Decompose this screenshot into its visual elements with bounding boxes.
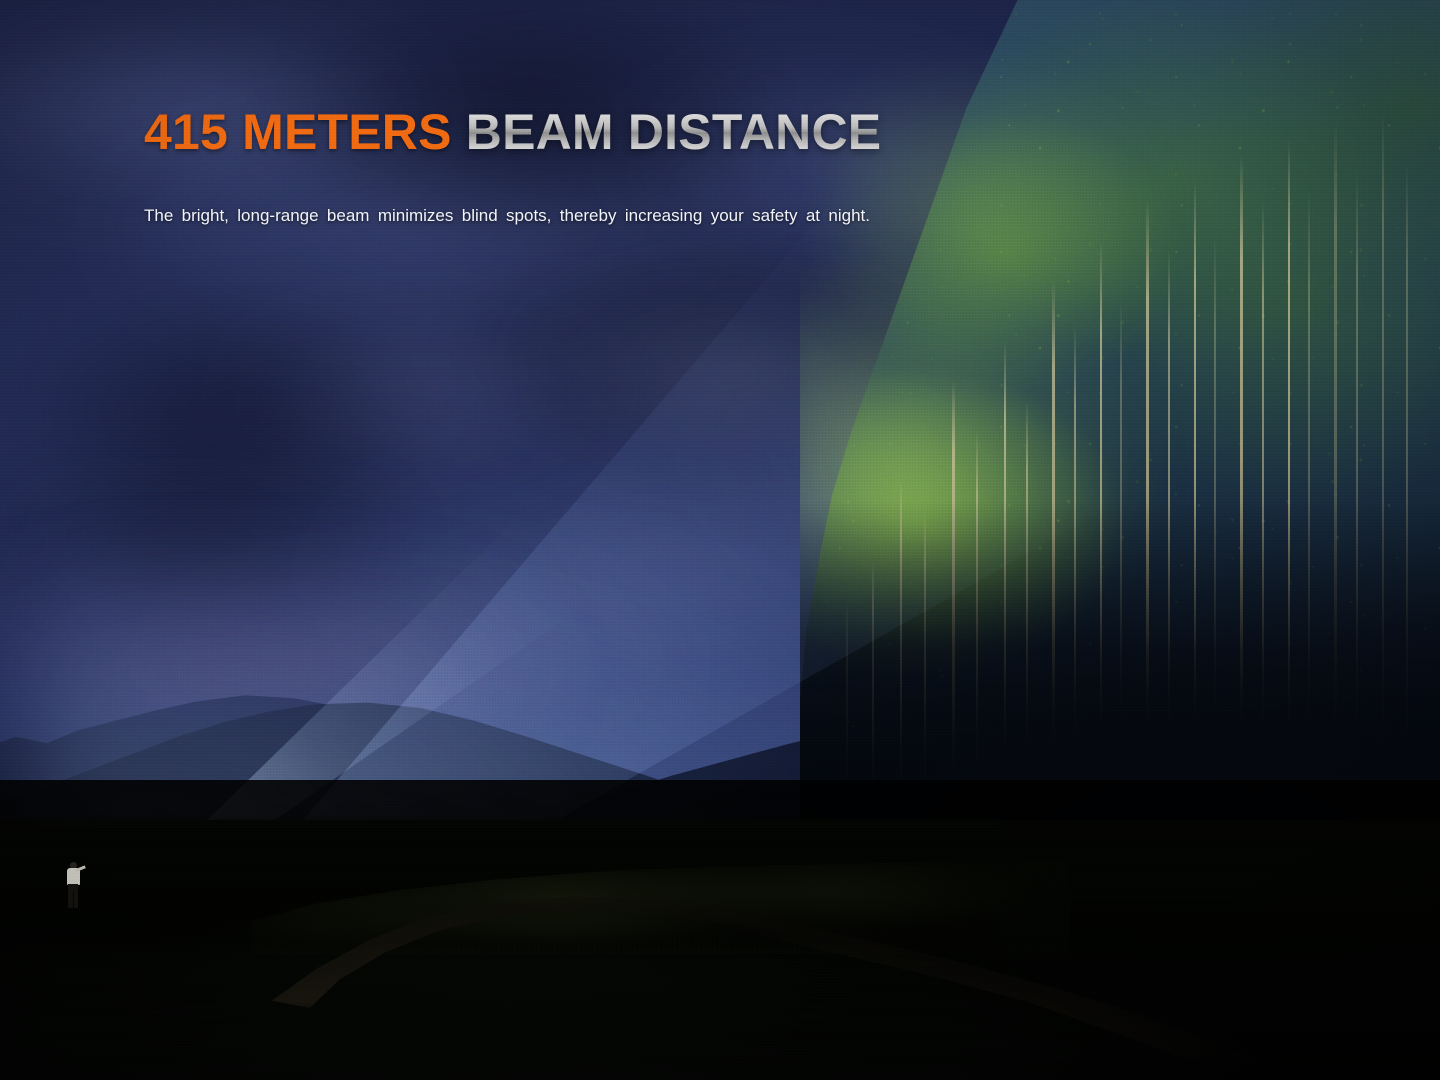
person-arm-holding-flashlight	[75, 865, 85, 872]
field-vignette	[0, 780, 1440, 1080]
person-leg-gap	[73, 892, 75, 908]
hero-description: The bright, long-range beam minimizes bl…	[144, 200, 870, 264]
hero-text-block: 415 METERS BEAM DISTANCE The bright, lon…	[144, 106, 870, 264]
person-with-flashlight	[62, 862, 88, 908]
headline-highlight: 415 METERS	[144, 104, 452, 160]
headline-rest: BEAM DISTANCE	[452, 104, 882, 160]
illuminated-eucalyptus-forest	[800, 0, 1440, 900]
hero-banner: 415 METERS BEAM DISTANCE The bright, lon…	[0, 0, 1440, 1080]
page-title: 415 METERS BEAM DISTANCE	[144, 106, 870, 159]
